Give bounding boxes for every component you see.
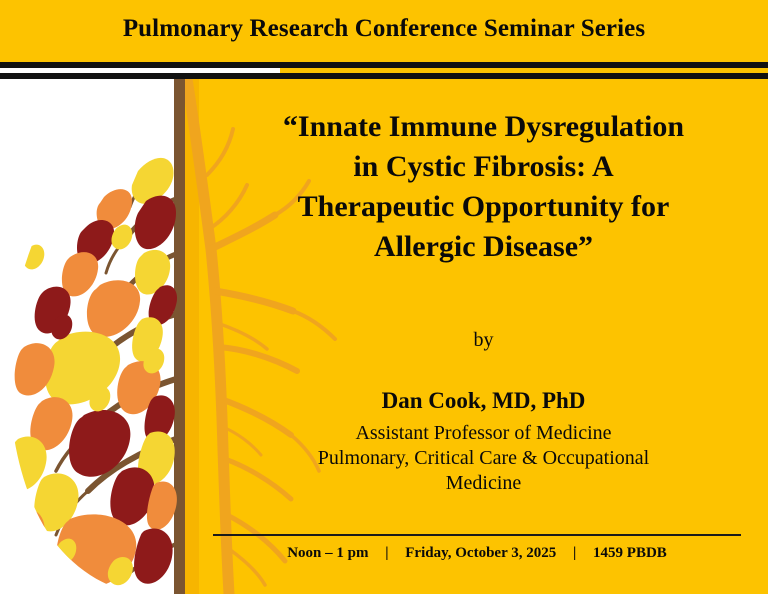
by-label: by <box>219 329 748 352</box>
series-title: Pulmonary Research Conference Seminar Se… <box>0 15 768 43</box>
talk-title-line: in Cystic Fibrosis: A <box>219 147 748 187</box>
seminar-poster: Pulmonary Research Conference Seminar Se… <box>0 0 768 594</box>
affiliation-line: Assistant Professor of Medicine <box>213 421 754 446</box>
artwork-panel <box>0 79 185 594</box>
detail-separator: | <box>560 545 589 562</box>
poster-content: “Innate Immune Dysregulation in Cystic F… <box>199 79 768 594</box>
speaker-name: Dan Cook, MD, PhD <box>219 388 748 414</box>
talk-title-line: Allergic Disease” <box>219 227 748 267</box>
event-date: Friday, October 3, 2025 <box>405 545 556 561</box>
gold-panel-edge <box>185 79 199 594</box>
event-details: Noon – 1 pm | Friday, October 3, 2025 | … <box>213 545 741 562</box>
event-time: Noon – 1 pm <box>287 545 368 561</box>
event-location: 1459 PBDB <box>593 545 667 561</box>
affiliation-line: Medicine <box>213 471 754 496</box>
detail-separator: | <box>372 545 401 562</box>
talk-title-line: Therapeutic Opportunity for <box>219 187 748 227</box>
talk-title-line: “Innate Immune Dysregulation <box>219 107 748 147</box>
lung-tree-icon <box>0 79 185 594</box>
footer-divider <box>213 534 741 536</box>
talk-title: “Innate Immune Dysregulation in Cystic F… <box>219 107 748 267</box>
affiliation-line: Pulmonary, Critical Care & Occupational <box>213 446 754 471</box>
speaker-affiliation: Assistant Professor of Medicine Pulmonar… <box>213 421 754 496</box>
